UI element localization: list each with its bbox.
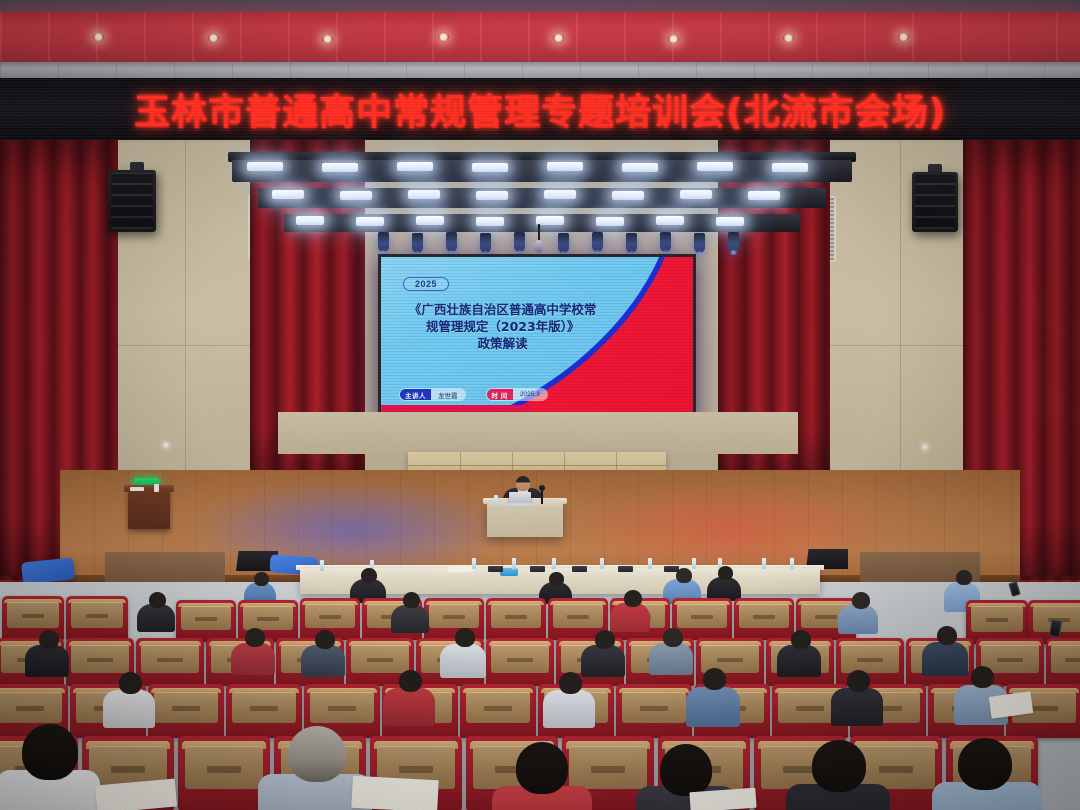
seat-number-plate — [879, 766, 913, 773]
seat-number-plate — [328, 706, 356, 711]
seat-number-plate — [507, 658, 532, 662]
slide-meta-badges: 主讲人 龙世霞 时 间 2025.3 — [399, 388, 667, 401]
stage-light — [544, 190, 576, 199]
person-head — [559, 672, 582, 694]
stage-light — [296, 216, 324, 225]
par-can-light — [626, 233, 637, 253]
seat-backrest — [71, 645, 128, 673]
person-torso — [383, 688, 435, 726]
audience-seat — [136, 638, 204, 686]
seat-number-plate — [250, 706, 278, 711]
person-torso — [581, 645, 625, 677]
laptop-base — [506, 503, 534, 506]
person-head — [852, 592, 870, 609]
audience-seat — [178, 736, 270, 810]
par-can-light — [412, 233, 423, 253]
person-head — [937, 626, 957, 645]
slide-title: 《广西壮族自治区普通高中学校常 规管理规定（2023年版）》 政策解读 — [381, 301, 624, 352]
seat-number-plate — [717, 658, 742, 662]
seat-number-plate — [443, 615, 465, 619]
seat-number-plate — [399, 766, 433, 773]
person-torso — [649, 643, 693, 675]
stage-light — [547, 162, 583, 171]
slide-presenter-label: 主讲人 — [400, 389, 431, 400]
slide-time-value: 2025.3 — [513, 389, 547, 400]
seat-number-plate — [484, 706, 512, 711]
ceiling-red-panel — [0, 12, 1080, 68]
person-torso — [831, 688, 883, 726]
seat-number-plate — [986, 618, 1009, 622]
par-can-light — [446, 232, 457, 252]
stage-light — [748, 191, 780, 200]
par-can-light — [660, 232, 671, 252]
ceiling-downlight — [783, 34, 794, 42]
audience-seat — [486, 638, 554, 686]
table-nameplate — [618, 566, 633, 572]
table-bottle — [552, 558, 556, 569]
line-array-speaker-right — [912, 172, 958, 232]
person-head — [516, 742, 568, 794]
person-torso — [610, 603, 650, 632]
line-array-speaker-left — [108, 170, 156, 232]
seat-backrest — [0, 692, 62, 723]
conference-hall-photo: 玉林市普通高中常规管理专题培训会(北流市会场) ▶ ▶ — [0, 0, 1080, 810]
table-bottle — [692, 558, 696, 569]
person-head — [718, 566, 733, 580]
person-head — [676, 568, 692, 583]
par-can-light — [480, 233, 491, 253]
person-head — [971, 666, 994, 688]
wall-seam — [95, 345, 275, 346]
stage-light — [612, 191, 644, 200]
person-head — [119, 672, 142, 694]
seat-backrest — [622, 692, 686, 723]
person-head — [361, 568, 377, 583]
person-head — [149, 592, 166, 608]
audience-seat — [424, 598, 484, 640]
stage-light — [247, 162, 283, 171]
table-bottle — [648, 558, 652, 569]
presenter-desk — [487, 501, 563, 537]
seat-backrest — [71, 602, 123, 628]
person-torso — [686, 687, 740, 727]
stage-light — [272, 190, 304, 199]
ceiling-downlight — [668, 35, 679, 43]
par-can-light — [728, 232, 739, 252]
person-torso — [543, 690, 595, 728]
person-head — [39, 630, 59, 649]
slide-title-line-3: 政策解读 — [381, 335, 624, 352]
stage-light — [680, 190, 712, 199]
audience-seat — [66, 596, 128, 640]
banner-text: 玉林市普通高中常规管理专题培训会(北流市会场) — [134, 83, 946, 135]
seat-number-plate — [16, 706, 44, 711]
seat-backrest — [243, 606, 293, 630]
person-head — [624, 590, 642, 607]
stage-light — [397, 162, 433, 171]
seat-backrest — [351, 645, 408, 673]
seat-backrest — [841, 645, 898, 673]
person-torso — [103, 690, 155, 728]
slide-presenter-name: 龙世霞 — [431, 389, 465, 400]
audience-seat — [616, 684, 692, 738]
led-banner: 玉林市普通高中常规管理专题培训会(北流市会场) — [0, 78, 1080, 140]
led-projection-screen: 2025 《广西壮族自治区普通高中学校常 规管理规定（2023年版）》 政策解读… — [378, 254, 696, 418]
slide-title-line-2: 规管理规定（2023年版）》 — [381, 318, 624, 335]
seat-number-plate — [753, 615, 775, 619]
seat-number-plate — [172, 706, 200, 711]
person-head — [254, 572, 269, 586]
seat-number-plate — [997, 658, 1022, 662]
seat-backrest — [7, 602, 59, 628]
slide-time-label: 时 间 — [487, 389, 513, 400]
seat-backrest — [739, 604, 789, 628]
seat-number-plate — [796, 706, 824, 711]
seat-number-plate — [157, 658, 182, 662]
stage-light — [716, 217, 744, 226]
seat-number-plate — [367, 658, 392, 662]
seat-number-plate — [1030, 706, 1058, 711]
seat-number-plate — [567, 615, 589, 619]
table-bottle — [472, 558, 476, 569]
seat-number-plate — [207, 766, 241, 773]
person-torso — [391, 605, 429, 633]
seat-backrest — [141, 645, 198, 673]
ceiling-downlight — [898, 33, 909, 41]
table-bottle — [512, 558, 516, 569]
stage-light — [697, 162, 733, 171]
person-head — [403, 592, 420, 608]
person-head — [958, 738, 1012, 790]
seat-backrest — [491, 604, 541, 628]
slide-time-badge: 时 间 2025.3 — [486, 388, 548, 401]
seat-number-plate — [87, 658, 112, 662]
seat-backrest — [310, 692, 374, 723]
slide-year-badge: 2025 — [403, 277, 449, 291]
table-nameplate — [488, 566, 503, 572]
seat-backrest — [185, 746, 262, 789]
ceiling-downlight — [438, 33, 449, 41]
seat-number-plate — [505, 615, 527, 619]
table-bottle — [320, 560, 324, 571]
presenter-head — [516, 476, 530, 491]
stage-light — [322, 163, 358, 172]
stage-light — [772, 163, 808, 172]
audience-seat — [460, 684, 536, 738]
hanging-microphone — [534, 240, 543, 253]
desk-water-bottle — [494, 495, 498, 505]
podium-paper — [130, 487, 144, 491]
person-head — [549, 572, 564, 586]
person-torso — [231, 643, 275, 675]
ceiling-downlight — [208, 34, 219, 42]
stage-light — [408, 190, 440, 199]
ceiling-downlight — [553, 34, 564, 42]
table-nameplate — [530, 566, 545, 572]
person-torso — [838, 605, 878, 634]
seat-number-plate — [86, 614, 109, 618]
presentation-slide: 2025 《广西壮族自治区普通高中学校常 规管理规定（2023年版）》 政策解读… — [381, 257, 693, 415]
stage-light — [656, 216, 684, 225]
attendee-notes — [689, 788, 756, 810]
seat-number-plate — [857, 658, 882, 662]
audience-seat — [148, 684, 224, 738]
wall-fixture-left — [162, 441, 170, 449]
audience-seat — [734, 598, 794, 640]
stage-back-wall — [278, 412, 798, 454]
seat-backrest — [154, 692, 218, 723]
ceiling-downlight — [322, 35, 333, 43]
stage-light — [340, 191, 372, 200]
audience-seat — [226, 684, 302, 738]
person-head — [703, 668, 726, 690]
person-torso — [301, 645, 345, 677]
person-head — [595, 630, 615, 649]
seat-backrest — [677, 604, 727, 628]
audience-seat — [176, 600, 236, 642]
table-nameplate — [572, 566, 587, 572]
par-can-light — [514, 232, 525, 252]
seat-number-plate — [319, 615, 341, 619]
stage-light — [596, 217, 624, 226]
stage-light — [536, 216, 564, 225]
seat-number-plate — [815, 615, 837, 619]
par-can-light — [558, 233, 569, 253]
seat-backrest — [553, 604, 603, 628]
person-head — [22, 724, 78, 780]
attendee-notes — [351, 776, 439, 810]
seat-number-plate — [591, 766, 625, 773]
seat-backrest — [181, 606, 231, 630]
table-bottle — [762, 558, 766, 569]
seat-backrest — [232, 692, 296, 723]
par-can-light — [378, 232, 389, 252]
person-head — [812, 740, 866, 792]
person-head — [663, 628, 683, 647]
ceiling-downlight — [93, 33, 104, 41]
stage-light — [622, 163, 658, 172]
table-bottle — [600, 558, 604, 569]
person-head — [956, 570, 972, 585]
seat-number-plate — [257, 617, 279, 621]
stage-light — [476, 217, 504, 226]
person-head — [399, 670, 422, 692]
seat-number-plate — [1065, 658, 1080, 662]
podium-bottle — [154, 484, 159, 492]
seat-backrest — [857, 746, 934, 789]
seat-backrest — [491, 645, 548, 673]
table-papers — [448, 566, 474, 573]
ceiling-trim-strip — [0, 62, 1080, 78]
person-head — [455, 628, 475, 647]
person-head — [245, 628, 265, 647]
person-torso — [922, 642, 968, 676]
seat-backrest — [305, 604, 355, 628]
stage-light — [476, 191, 508, 200]
seat-backrest — [569, 746, 646, 789]
slide-presenter-badge: 主讲人 龙世霞 — [399, 388, 466, 401]
person-head — [315, 630, 335, 649]
seat-number-plate — [691, 615, 713, 619]
stage-light — [472, 163, 508, 172]
person-head — [847, 670, 870, 692]
person-torso — [440, 644, 486, 678]
seat-backrest — [429, 604, 479, 628]
slide-title-line-1: 《广西壮族自治区普通高中学校常 — [381, 301, 624, 318]
stage-light — [356, 217, 384, 226]
par-can-light — [592, 232, 603, 252]
person-torso — [137, 604, 175, 632]
person-torso — [25, 645, 69, 677]
desk-microphone — [541, 488, 543, 504]
seat-backrest — [1051, 645, 1080, 673]
person-head-grey-hair — [288, 726, 346, 782]
person-head — [791, 630, 811, 649]
seat-backrest — [971, 606, 1023, 632]
audience-seat — [486, 598, 546, 640]
seat-number-plate — [22, 614, 45, 618]
seat-backrest — [466, 692, 530, 723]
seat-number-plate — [111, 766, 145, 773]
audience-seat — [1046, 638, 1080, 686]
person-torso — [777, 645, 821, 677]
par-can-light — [694, 233, 705, 253]
table-bottle — [790, 558, 794, 569]
seat-number-plate — [640, 706, 668, 711]
seat-number-plate — [195, 617, 217, 621]
wooden-podium — [128, 489, 170, 529]
person-head — [660, 744, 712, 796]
stage-light — [416, 216, 444, 225]
wall-fixture-right — [921, 443, 929, 451]
